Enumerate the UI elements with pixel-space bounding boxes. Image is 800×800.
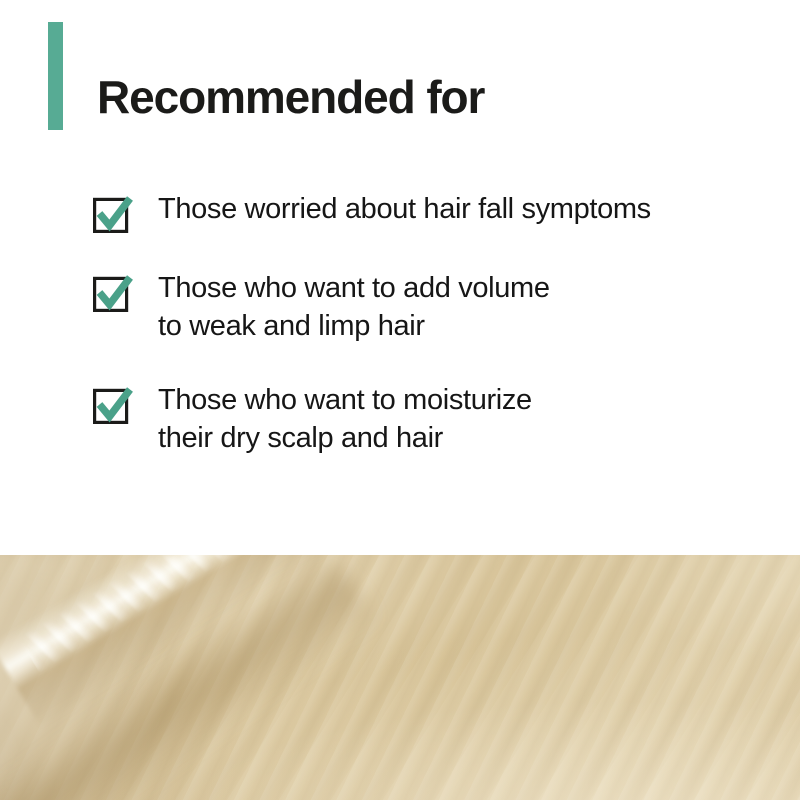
page-title: Recommended for xyxy=(63,74,484,120)
product-texture-photo xyxy=(0,555,800,800)
list-item-label: Those who want to moisturize their dry s… xyxy=(131,381,532,457)
accent-bar xyxy=(48,22,63,130)
recommended-for-panel: Recommended for Those worried about hair… xyxy=(0,0,800,800)
list-item: Those who want to moisturize their dry s… xyxy=(93,381,773,457)
heading-row: Recommended for xyxy=(48,22,484,130)
checkbox-checked-icon xyxy=(93,386,131,424)
list-item: Those who want to add volume to weak and… xyxy=(93,269,773,345)
list-item-label: Those who want to add volume to weak and… xyxy=(131,269,550,345)
checkbox-checked-icon xyxy=(93,195,131,233)
recommendation-checklist: Those worried about hair fall symptoms T… xyxy=(93,190,773,457)
list-item-label: Those worried about hair fall symptoms xyxy=(131,190,651,228)
texture-vignette-layer xyxy=(0,555,800,800)
checkbox-checked-icon xyxy=(93,274,131,312)
list-item: Those worried about hair fall symptoms xyxy=(93,190,773,233)
